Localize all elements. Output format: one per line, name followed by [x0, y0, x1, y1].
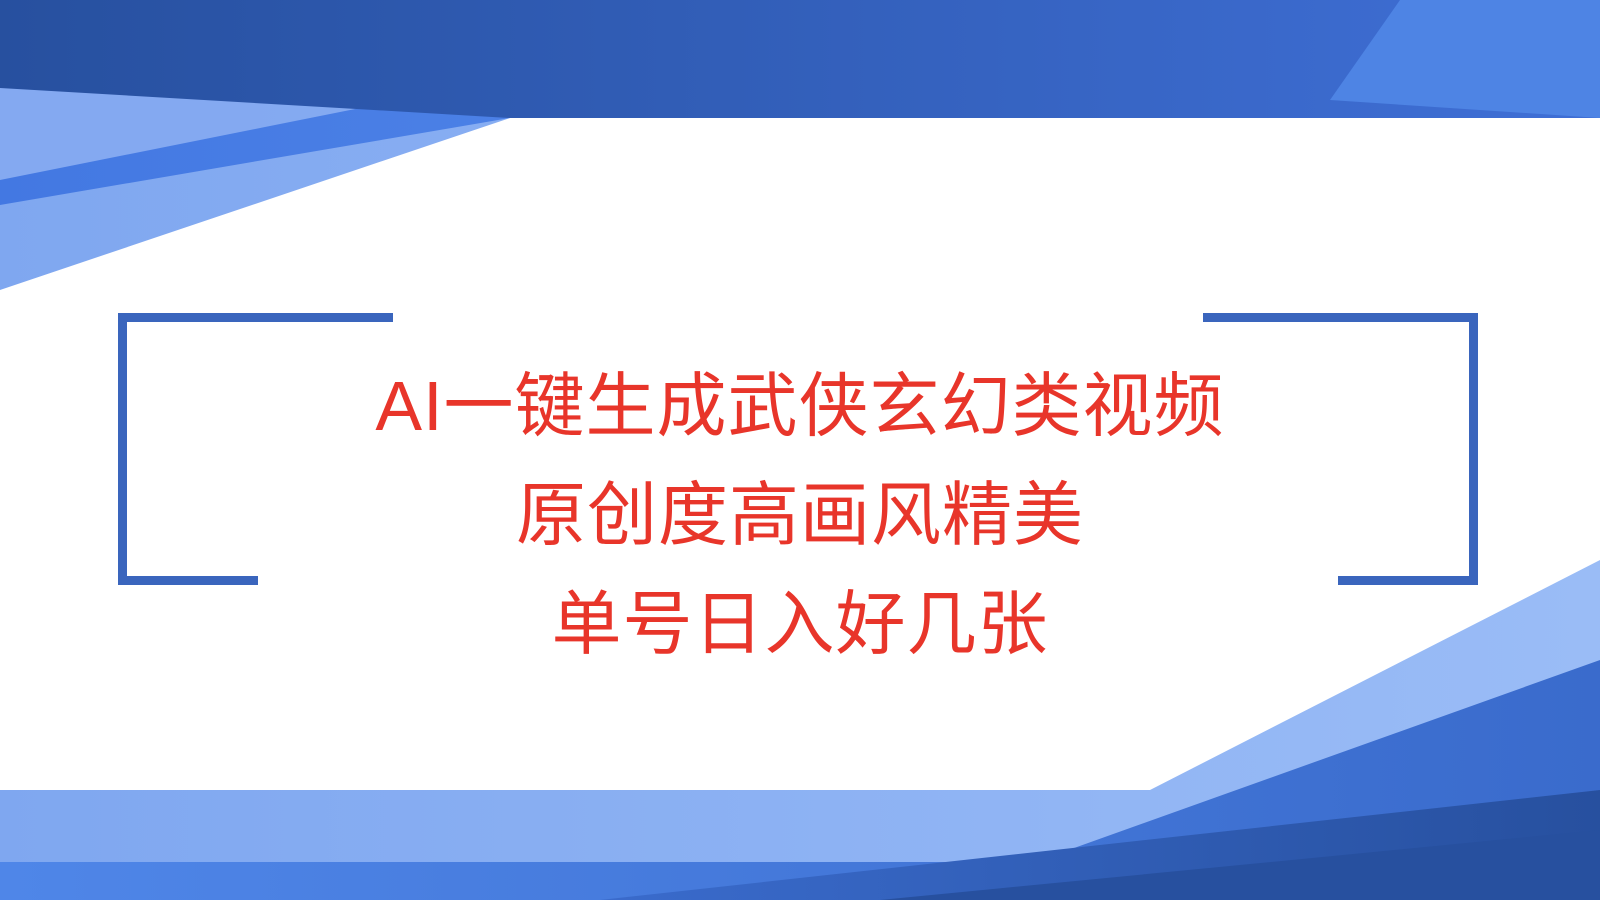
headline-block: AI一键生成武侠玄幻类视频 原创度高画风精美 单号日入好几张 [0, 352, 1600, 680]
bracket-right-top-bar [1203, 313, 1478, 322]
poster-canvas: AI一键生成武侠玄幻类视频 原创度高画风精美 单号日入好几张 [0, 0, 1600, 900]
headline-line-3: 单号日入好几张 [0, 570, 1600, 679]
headline-line-2: 原创度高画风精美 [0, 461, 1600, 570]
bracket-left-top-bar [118, 313, 393, 322]
headline-line-1: AI一键生成武侠玄幻类视频 [0, 352, 1600, 461]
